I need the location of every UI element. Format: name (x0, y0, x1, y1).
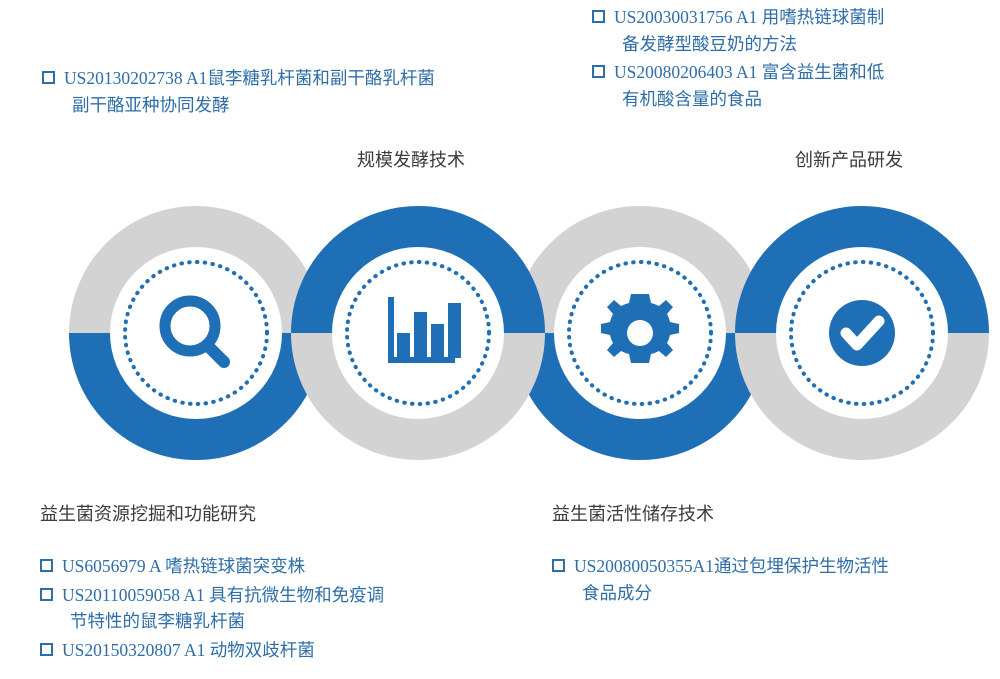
square-bullet-icon (40, 588, 53, 601)
gear-icon (601, 294, 679, 363)
infographic-canvas: 规模发酵技术 创新产品研发 益生菌资源挖掘和功能研究 益生菌活性储存技术 US2… (0, 0, 1000, 679)
patent-line-2: 副干酪亚种协同发酵 (64, 92, 512, 119)
stage-caption-1: 益生菌资源挖掘和功能研究 (40, 500, 256, 526)
square-bullet-icon (592, 65, 605, 78)
list-item[interactable]: US6056979 A 嗜热链球菌突变株 (40, 553, 500, 580)
list-item[interactable]: US20130202738 A1鼠李糖乳杆菌和副干酪乳杆菌 副干酪亚种协同发酵 (42, 65, 512, 118)
patent-line-2: 有机酸含量的食品 (614, 86, 992, 113)
patent-line-1: US20080050355A1通过包埋保护生物活性 (574, 556, 889, 576)
patent-text: US20150320807 A1 动物双歧杆菌 (62, 637, 500, 664)
patent-line-2: 食品成分 (574, 580, 992, 607)
patent-list-bottom-left: US6056979 A 嗜热链球菌突变株 US20110059058 A1 具有… (40, 553, 500, 665)
patent-line-1: US20030031756 A1 用嗜热链球菌制 (614, 7, 884, 27)
square-bullet-icon (592, 10, 605, 23)
patent-line-1: US20150320807 A1 动物双歧杆菌 (62, 640, 315, 660)
list-item[interactable]: US20110059058 A1 具有抗微生物和免疫调 节特性的鼠李糖乳杆菌 (40, 582, 500, 635)
list-item[interactable]: US20030031756 A1 用嗜热链球菌制 备发酵型酸豆奶的方法 (592, 4, 992, 57)
inner-disc-stage-1 (110, 247, 282, 419)
patent-list-bottom-right: US20080050355A1通过包埋保护生物活性 食品成分 (552, 553, 992, 608)
stage-caption-4: 创新产品研发 (795, 146, 903, 172)
patent-text: US20080206403 A1 富含益生菌和低 有机酸含量的食品 (614, 59, 992, 112)
patent-line-1: US6056979 A 嗜热链球菌突变株 (62, 556, 305, 576)
square-bullet-icon (40, 559, 53, 572)
patent-list-top-left: US20130202738 A1鼠李糖乳杆菌和副干酪乳杆菌 副干酪亚种协同发酵 (42, 65, 512, 120)
check-circle-icon (829, 300, 895, 366)
patent-line-2: 备发酵型酸豆奶的方法 (614, 31, 992, 58)
patent-text: US6056979 A 嗜热链球菌突变株 (62, 553, 500, 580)
patent-text: US20130202738 A1鼠李糖乳杆菌和副干酪乳杆菌 副干酪亚种协同发酵 (64, 65, 512, 118)
list-item[interactable]: US20150320807 A1 动物双歧杆菌 (40, 637, 500, 664)
stage-caption-2: 规模发酵技术 (357, 146, 465, 172)
patent-list-top-right: US20030031756 A1 用嗜热链球菌制 备发酵型酸豆奶的方法 US20… (592, 4, 992, 114)
patent-text: US20030031756 A1 用嗜热链球菌制 备发酵型酸豆奶的方法 (614, 4, 992, 57)
patent-line-1: US20130202738 A1鼠李糖乳杆菌和副干酪乳杆菌 (64, 68, 435, 88)
square-bullet-icon (40, 643, 53, 656)
square-bullet-icon (552, 559, 565, 572)
patent-line-1: US20110059058 A1 具有抗微生物和免疫调 (62, 585, 384, 605)
patent-text: US20080050355A1通过包埋保护生物活性 食品成分 (574, 553, 992, 606)
patent-line-1: US20080206403 A1 富含益生菌和低 (614, 62, 884, 82)
square-bullet-icon (42, 71, 55, 84)
list-item[interactable]: US20080050355A1通过包埋保护生物活性 食品成分 (552, 553, 992, 606)
patent-text: US20110059058 A1 具有抗微生物和免疫调 节特性的鼠李糖乳杆菌 (62, 582, 500, 635)
stage-caption-3: 益生菌活性储存技术 (552, 500, 714, 526)
list-item[interactable]: US20080206403 A1 富含益生菌和低 有机酸含量的食品 (592, 59, 992, 112)
patent-line-2: 节特性的鼠李糖乳杆菌 (62, 608, 500, 635)
